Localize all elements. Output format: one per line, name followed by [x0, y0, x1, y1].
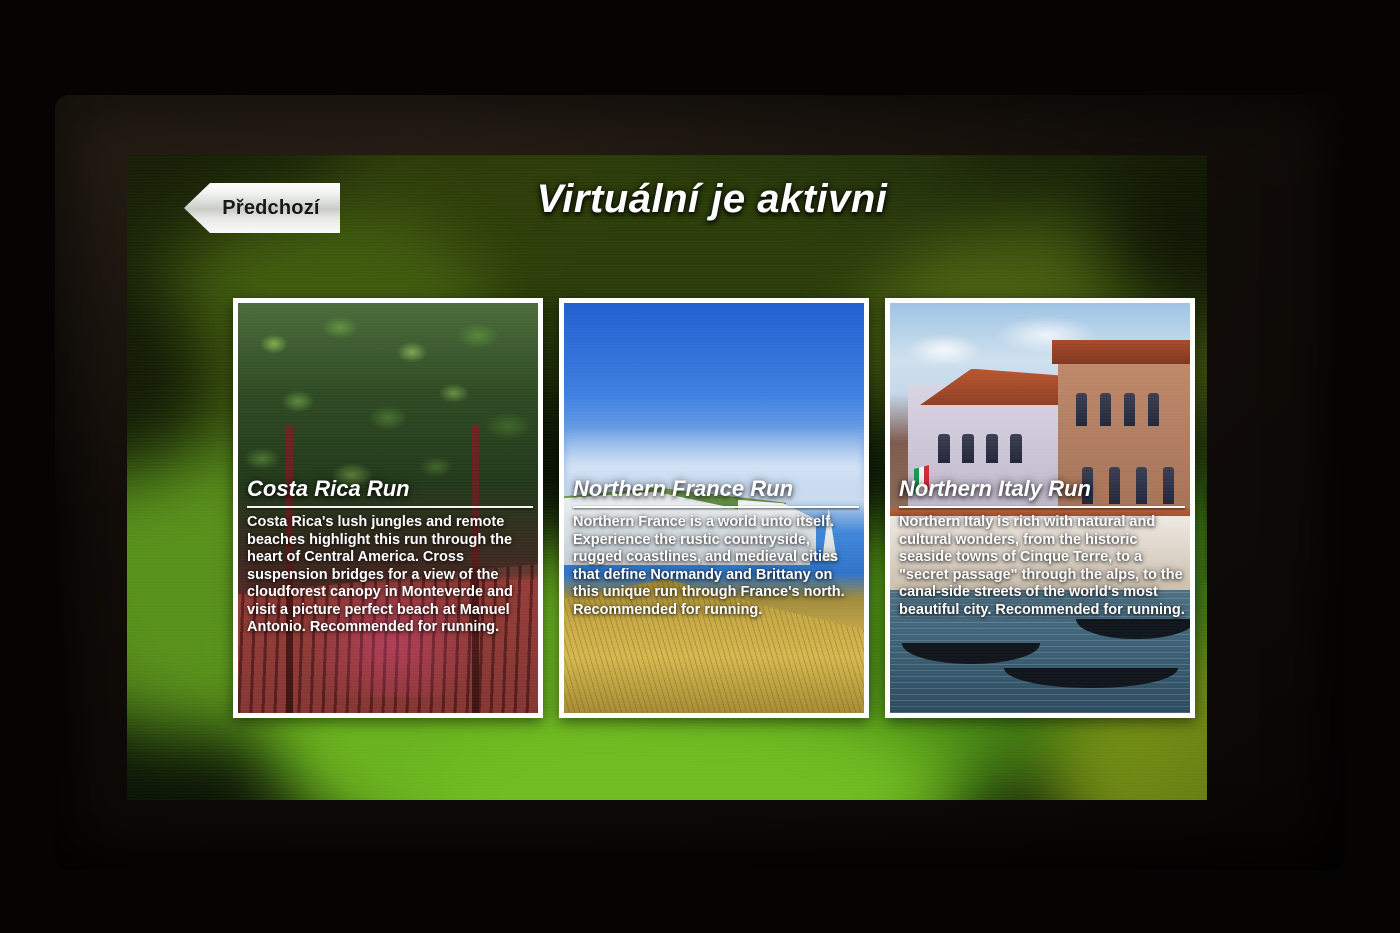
- run-cards-row: Costa Rica Run Costa Rica's lush jungles…: [233, 298, 1195, 718]
- card-text-northern-france: Northern France Run Northern France is a…: [573, 476, 859, 619]
- card-text-northern-italy: Northern Italy Run Northern Italy is ric…: [899, 476, 1185, 619]
- run-card-northern-france[interactable]: Northern France Run Northern France is a…: [559, 298, 869, 718]
- page-title: Virtuální je aktivni: [127, 177, 1207, 222]
- run-card-northern-italy[interactable]: Northern Italy Run Northern Italy is ric…: [885, 298, 1195, 718]
- monitor-photo: Předchozí Virtuální je aktivni: [0, 0, 1400, 933]
- card-title: Northern France Run: [573, 476, 859, 502]
- run-card-costa-rica[interactable]: Costa Rica Run Costa Rica's lush jungles…: [233, 298, 543, 718]
- card-title: Northern Italy Run: [899, 476, 1185, 502]
- card-divider: [573, 506, 859, 508]
- card-divider: [899, 506, 1185, 508]
- card-description: Costa Rica's lush jungles and remote bea…: [247, 514, 533, 637]
- card-text-costa-rica: Costa Rica Run Costa Rica's lush jungles…: [247, 476, 533, 637]
- card-description: Northern Italy is rich with natural and …: [899, 514, 1185, 619]
- app-screen: Předchozí Virtuální je aktivni: [127, 155, 1207, 800]
- card-title: Costa Rica Run: [247, 476, 533, 502]
- card-divider: [247, 506, 533, 508]
- card-description: Northern France is a world unto itself. …: [573, 514, 859, 619]
